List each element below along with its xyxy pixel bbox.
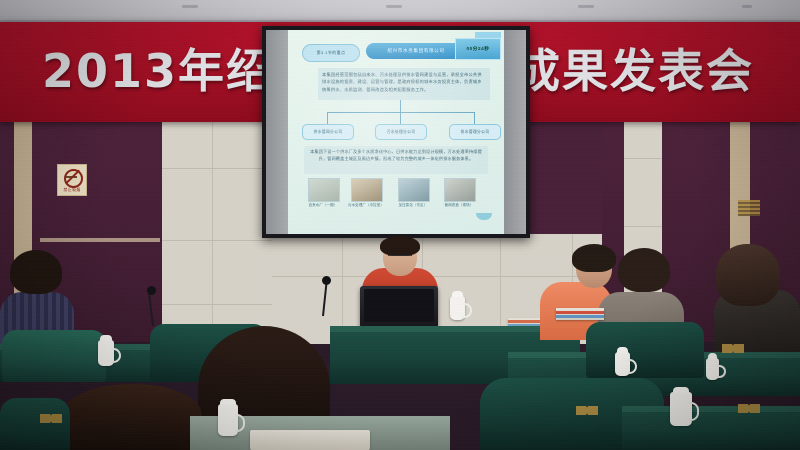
thumbnail-caption: 管网改造（现场）: [441, 202, 477, 207]
front-table: [622, 406, 800, 450]
conference-hall-photo: 禁止吸烟 2013年绍兴市 成果发表会 第3.1节的重点 绍兴市水务集团有限公司…: [0, 0, 800, 450]
banner-text-right: 成果发表会: [514, 38, 754, 104]
org-connector: [400, 100, 401, 112]
screen-border-right: [504, 30, 526, 234]
audience-hair: [618, 248, 670, 292]
tea-mug[interactable]: [706, 358, 719, 380]
org-box: 供水管网分公司: [302, 124, 354, 140]
document-stack[interactable]: [250, 430, 370, 450]
chair-ornament: [576, 406, 598, 415]
org-connector: [327, 112, 328, 124]
prohibition-ring-icon: [64, 169, 83, 188]
tea-mug[interactable]: [450, 296, 465, 320]
audience-hair: [572, 244, 616, 272]
slide-paragraph-secondary: 本集团下设一个供水厂及多个水质净化中心，日供水能力达到设计规模，污水处理率持续提…: [304, 146, 488, 174]
slide-photo-thumbnail: [398, 178, 430, 202]
ceiling-fixture: [578, 5, 594, 8]
microphone-head: [322, 276, 331, 285]
slide-callout-bubble: 第3.1节的重点: [302, 44, 360, 62]
tea-mug[interactable]: [218, 404, 238, 436]
foreground-hair: [62, 384, 202, 450]
ceiling-fixture: [386, 5, 402, 8]
sign-label: 禁止吸烟: [58, 187, 86, 193]
chair-ornament: [738, 404, 760, 413]
ceiling-fixture: [742, 5, 752, 8]
tea-mug[interactable]: [615, 352, 630, 376]
tea-mug[interactable]: [670, 392, 692, 426]
slide-photo-thumbnail: [351, 178, 383, 202]
slide-photo-thumbnail: [444, 178, 476, 202]
projected-slide: 第3.1节的重点 绍兴市水务集团有限公司 本集团经营范围包括自来水、污水处理及供…: [288, 30, 504, 234]
org-connector: [474, 112, 475, 124]
presenter-laptop[interactable]: [360, 286, 438, 328]
microphone-head: [147, 286, 156, 295]
chair-ornament: [722, 344, 744, 353]
audience-chair[interactable]: [586, 322, 704, 378]
thumbnail-caption: 污水处理厂（中控室）: [348, 202, 384, 207]
ceiling: [0, 0, 800, 24]
slide-decoration: [476, 213, 492, 220]
tiled-wall: [162, 122, 272, 342]
wall-trim: [738, 200, 760, 216]
org-box: 污水处理分公司: [375, 124, 427, 140]
ceiling-fixture: [182, 5, 198, 8]
presenter-hair: [380, 236, 420, 256]
chair-ornament: [40, 414, 62, 423]
projection-screen: 第3.1节的重点 绍兴市水务集团有限公司 本集团经营范围包括自来水、污水处理及供…: [262, 26, 530, 238]
org-connector: [400, 112, 401, 124]
screen-border-left: [266, 30, 288, 234]
no-smoking-sign: 禁止吸烟: [57, 164, 87, 196]
presenter-glasses: [388, 255, 412, 261]
org-box: 排水管理分公司: [449, 124, 501, 140]
wall-baseboard: [40, 238, 160, 242]
slide-paragraph: 本集团经营范围包括自来水、污水处理及供排水管网建设与运营，承担全市公共供排水设施…: [318, 68, 490, 100]
table-edge: [622, 406, 800, 412]
thumbnail-caption: 自来水厂（一期）: [305, 202, 341, 207]
presentation-timer: 00分24秒: [455, 38, 501, 60]
audience-hair: [10, 250, 62, 294]
laptop-screen: [364, 289, 434, 322]
audience-hair: [716, 244, 780, 306]
thumbnail-caption: 加压泵站（东区）: [395, 202, 431, 207]
audience-chair[interactable]: [2, 330, 106, 382]
front-chair[interactable]: [0, 398, 70, 450]
slide-title-bar: 绍兴市水务集团有限公司: [366, 43, 466, 59]
tea-mug[interactable]: [98, 340, 114, 366]
org-connector: [327, 112, 475, 113]
slide-photo-thumbnail: [308, 178, 340, 202]
document-stack[interactable]: [556, 308, 604, 320]
